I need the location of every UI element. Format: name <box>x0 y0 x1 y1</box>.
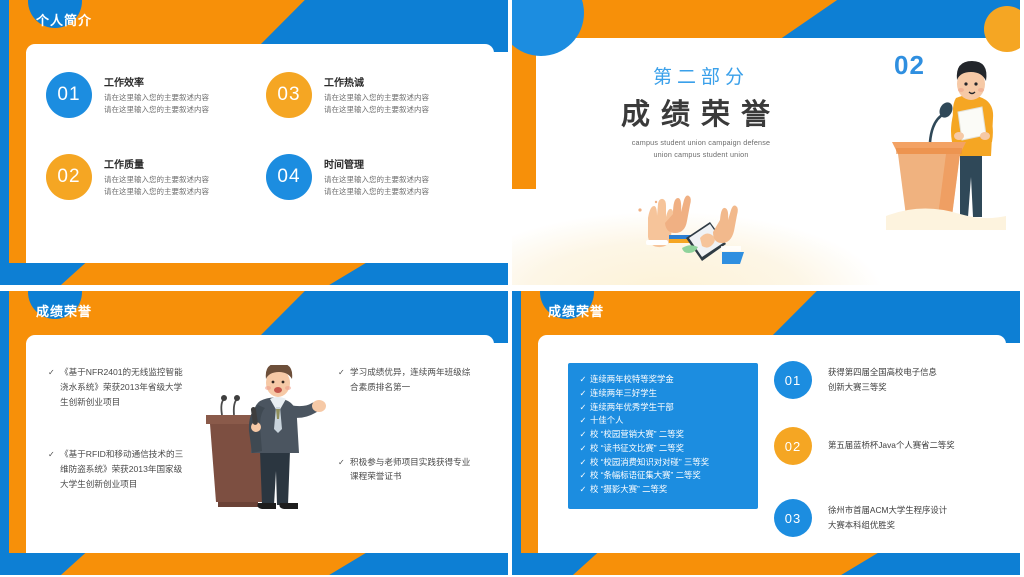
section-number: 02 <box>894 50 925 81</box>
item-number-badge: 04 <box>266 154 312 200</box>
left-edge-blue-bar <box>512 291 521 575</box>
section-title: 成绩荣誉 <box>586 91 816 133</box>
speaker-at-podium-illustration: 02 <box>886 50 1006 230</box>
item-heading: 工作效率 <box>104 74 209 89</box>
item-number-badge: 01 <box>774 361 812 399</box>
list-item: ✓校 “校园营销大赛” 二等奖 <box>574 428 752 442</box>
item-number-badge: 01 <box>46 72 92 118</box>
check-icon: ✓ <box>338 455 348 485</box>
list-item: ✓ 《基于NFR2401的无线监控智能浇水系统》荣获2013年省级大学生创新创业… <box>48 365 188 409</box>
list-item-text: 校 “摄影大赛” 二等奖 <box>590 483 667 497</box>
slide-thumbnail-section-divider[interactable]: 第二部分 成绩荣誉 campus student union campaign … <box>512 0 1020 285</box>
item-line-2: 请在这里输入您的主要叙述内容 <box>104 104 209 116</box>
item-line-1: 获得第四届全国高校电子信息 <box>828 365 937 380</box>
list-item-text: 校 “校园营销大赛” 二等奖 <box>590 428 684 442</box>
raised-hands-illustration <box>626 188 756 268</box>
list-item-text: 学习成绩优异，连续两年班级综合素质排名第一 <box>350 365 478 395</box>
list-item: ✓十佳个人 <box>574 414 752 428</box>
check-icon: ✓ <box>576 428 590 442</box>
feature-item[interactable]: 02 工作质量 请在这里输入您的主要叙述内容 请在这里输入您的主要叙述内容 <box>46 154 248 200</box>
slide-thumbnail-honors-projects[interactable]: 成绩荣誉 ✓ 《基于NFR2401的无线监控智能浇水系统》荣获2013年省级大学… <box>0 291 508 575</box>
list-item: ✓校 “读书征文比赛” 二等奖 <box>574 442 752 456</box>
check-icon: ✓ <box>576 469 590 483</box>
raised-hands-icon <box>626 188 756 268</box>
section-english-line-2: union campus student union <box>586 149 816 161</box>
item-line-1: 请在这里输入您的主要叙述内容 <box>104 174 209 186</box>
item-number-badge: 02 <box>46 154 92 200</box>
item-line-1: 请在这里输入您的主要叙述内容 <box>324 92 429 104</box>
section-english-line-1: campus student union campaign defense <box>586 137 816 149</box>
check-icon: ✓ <box>576 387 590 401</box>
item-line-1: 第五届蓝桥杯Java个人赛省二等奖 <box>828 438 955 453</box>
list-item: ✓ 学习成绩优异，连续两年班级综合素质排名第一 <box>338 365 478 395</box>
item-line-2: 请在这里输入您的主要叙述内容 <box>104 186 209 198</box>
list-item-text: 十佳个人 <box>590 414 624 428</box>
item-line-2: 请在这里输入您的主要叙述内容 <box>324 186 429 198</box>
feature-item[interactable]: 03 工作热诚 请在这里输入您的主要叙述内容 请在这里输入您的主要叙述内容 <box>266 72 468 118</box>
list-item-text: 校 “读书征文比赛” 二等奖 <box>590 442 684 456</box>
feature-item[interactable]: 01 工作效率 请在这里输入您的主要叙述内容 请在这里输入您的主要叙述内容 <box>46 72 248 118</box>
check-icon: ✓ <box>576 401 590 415</box>
check-icon: ✓ <box>576 456 590 470</box>
list-item: 03 徐州市首届ACM大学生程序设计 大赛本科组优胜奖 <box>774 499 1004 537</box>
list-item-text: 连续两年三好学生 <box>590 387 657 401</box>
feature-grid: 01 工作效率 请在这里输入您的主要叙述内容 请在这里输入您的主要叙述内容 03… <box>46 72 468 200</box>
list-item-text: 《基于NFR2401的无线监控智能浇水系统》荣获2013年省级大学生创新创业项目 <box>60 365 188 409</box>
list-item-text: 《基于RFID和移动通信技术的三维防盗系统》荣获2013年国家级大学生创新创业项… <box>60 447 188 491</box>
section-hero: 第二部分 成绩荣誉 campus student union campaign … <box>586 62 816 160</box>
numbered-awards-list: 01 获得第四届全国高校电子信息 创新大赛三等奖 02 第五届蓝桥杯Java个人… <box>774 361 1004 565</box>
check-icon: ✓ <box>48 447 58 491</box>
two-column-bullets: ✓ 《基于NFR2401的无线监控智能浇水系统》荣获2013年省级大学生创新创业… <box>48 365 478 530</box>
feature-item[interactable]: 04 时间管理 请在这里输入您的主要叙述内容 请在这里输入您的主要叙述内容 <box>266 154 468 200</box>
item-heading: 时间管理 <box>324 156 429 171</box>
list-item-text: 积极参与老师项目实践获得专业课程荣誉证书 <box>350 455 478 485</box>
page-title: 成绩荣誉 <box>36 301 92 320</box>
list-item: ✓连续两年优秀学生干部 <box>574 401 752 415</box>
check-icon: ✓ <box>576 483 590 497</box>
awards-list-box: ✓连续两年校特等奖学金 ✓连续两年三好学生 ✓连续两年优秀学生干部 ✓十佳个人 … <box>568 363 758 509</box>
item-number-badge: 03 <box>266 72 312 118</box>
list-item-text: 校 “校园消费知识对对碰” 三等奖 <box>590 456 709 470</box>
page-title: 成绩荣誉 <box>548 301 604 320</box>
list-item-text: 连续两年校特等奖学金 <box>590 373 674 387</box>
list-item: ✓连续两年校特等奖学金 <box>574 373 752 387</box>
item-heading: 工作热诚 <box>324 74 429 89</box>
item-text: 获得第四届全国高校电子信息 创新大赛三等奖 <box>828 365 937 395</box>
list-item: ✓连续两年三好学生 <box>574 387 752 401</box>
item-text: 第五届蓝桥杯Java个人赛省二等奖 <box>828 438 955 453</box>
left-edge-blue-bar <box>0 0 9 285</box>
list-item: ✓校 “校园消费知识对对碰” 三等奖 <box>574 456 752 470</box>
item-number-badge: 02 <box>774 427 812 465</box>
list-item: ✓ 《基于RFID和移动通信技术的三维防盗系统》荣获2013年国家级大学生创新创… <box>48 447 188 491</box>
item-text: 工作热诚 请在这里输入您的主要叙述内容 请在这里输入您的主要叙述内容 <box>324 74 429 115</box>
check-icon: ✓ <box>48 365 58 409</box>
list-item-text: 连续两年优秀学生干部 <box>590 401 674 415</box>
item-text: 时间管理 请在这里输入您的主要叙述内容 请在这里输入您的主要叙述内容 <box>324 156 429 197</box>
slide-grid-canvas: 个人简介 01 工作效率 请在这里输入您的主要叙述内容 请在这里输入您的主要叙述… <box>0 0 1024 577</box>
list-item: ✓ 积极参与老师项目实践获得专业课程荣誉证书 <box>338 455 478 485</box>
left-bullet-column: ✓ 《基于NFR2401的无线监控智能浇水系统》荣获2013年省级大学生创新创业… <box>48 365 188 530</box>
check-icon: ✓ <box>576 414 590 428</box>
footer-band-orange <box>61 553 366 575</box>
section-label: 第二部分 <box>586 62 816 89</box>
check-icon: ✓ <box>338 365 348 395</box>
item-heading: 工作质量 <box>104 156 209 171</box>
item-line-2: 大赛本科组优胜奖 <box>828 518 947 533</box>
list-item: 02 第五届蓝桥杯Java个人赛省二等奖 <box>774 427 1004 465</box>
list-item: ✓校 “条幅标语征集大赛” 二等奖 <box>574 469 752 483</box>
list-item-text: 校 “条幅标语征集大赛” 二等奖 <box>590 469 701 483</box>
item-number-badge: 03 <box>774 499 812 537</box>
item-line-2: 创新大赛三等奖 <box>828 380 937 395</box>
item-text: 工作质量 请在这里输入您的主要叙述内容 请在这里输入您的主要叙述内容 <box>104 156 209 197</box>
center-illustration-column <box>188 365 338 530</box>
item-line-1: 请在这里输入您的主要叙述内容 <box>324 174 429 186</box>
item-line-1: 请在这里输入您的主要叙述内容 <box>104 92 209 104</box>
item-line-2: 请在这里输入您的主要叙述内容 <box>324 104 429 116</box>
businessman-speaking-illustration <box>188 365 338 525</box>
list-item: ✓校 “摄影大赛” 二等奖 <box>574 483 752 497</box>
item-line-1: 徐州市首届ACM大学生程序设计 <box>828 503 947 518</box>
right-bullet-column: ✓ 学习成绩优异，连续两年班级综合素质排名第一 ✓ 积极参与老师项目实践获得专业… <box>338 365 478 530</box>
page-title: 个人简介 <box>36 10 92 29</box>
list-item: 01 获得第四届全国高校电子信息 创新大赛三等奖 <box>774 361 1004 399</box>
check-icon: ✓ <box>576 373 590 387</box>
check-icon: ✓ <box>576 442 590 456</box>
slide-thumbnail-personal-profile[interactable]: 个人简介 01 工作效率 请在这里输入您的主要叙述内容 请在这里输入您的主要叙述… <box>0 0 508 285</box>
left-edge-blue-bar <box>0 291 9 575</box>
slide-thumbnail-honors-awards[interactable]: 成绩荣誉 ✓连续两年校特等奖学金 ✓连续两年三好学生 ✓连续两年优秀学生干部 ✓… <box>512 291 1020 575</box>
item-text: 徐州市首届ACM大学生程序设计 大赛本科组优胜奖 <box>828 503 947 533</box>
item-text: 工作效率 请在这里输入您的主要叙述内容 请在这里输入您的主要叙述内容 <box>104 74 209 115</box>
footer-band-orange <box>61 263 366 285</box>
